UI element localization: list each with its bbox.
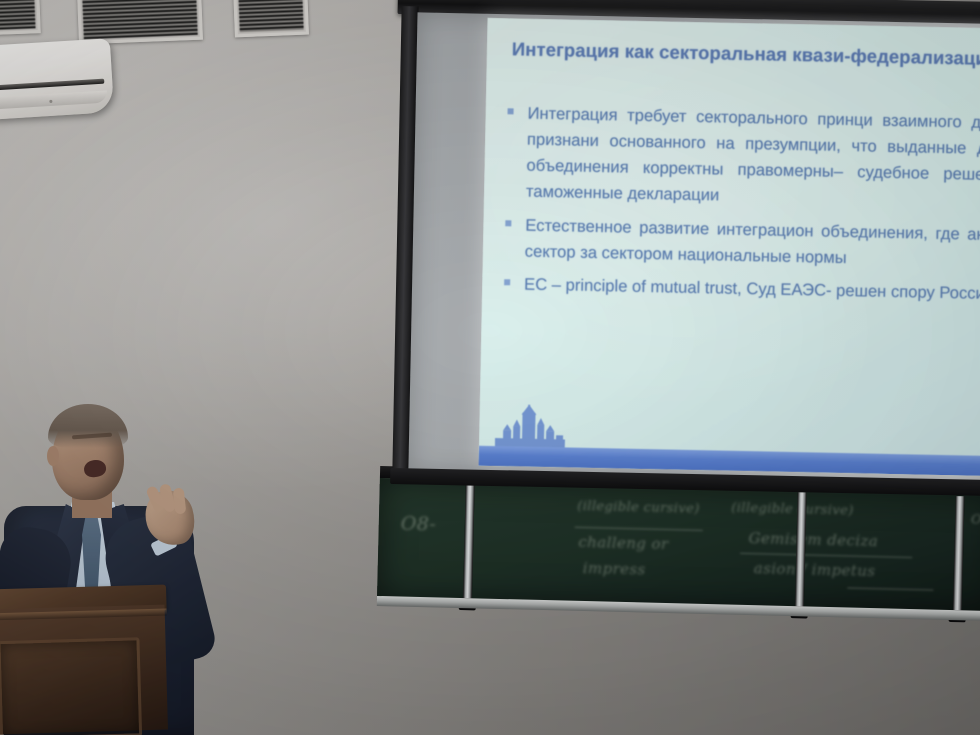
slide-bullet: Интеграция требует секторального принци … [494, 100, 980, 217]
lecture-hall-photo: O8- (illegible cursive) challeng or impr… [0, 0, 980, 735]
presenter-finger [173, 487, 187, 514]
chalk-writing: (illegible cursive) [731, 501, 854, 519]
bullet-text: Интеграция требует секторального принци … [526, 104, 980, 205]
bullet-square-icon [508, 108, 514, 114]
projection-screen: Интеграция как секторальная квази-федера… [388, 0, 980, 502]
msu-building-logo-icon [495, 404, 566, 449]
projected-slide: Интеграция как секторальная квази-федера… [478, 18, 980, 477]
bullet-square-icon [504, 279, 510, 285]
slide-title: Интеграция как секторальная квази-федера… [509, 36, 980, 73]
chalk-writing: challeng or [578, 533, 669, 553]
bullet-text: Естественное развитие интеграцион объеди… [525, 215, 980, 267]
bullet-text: ЕС – principle of mutual trust, Суд ЕАЭС… [524, 274, 980, 304]
ac-lower-lip [0, 90, 108, 109]
presenter-ear [47, 446, 59, 466]
chalk-writing: asion / impetus [754, 559, 876, 580]
chalk-writing: (illegible cursive) [577, 499, 700, 517]
lectern-podium [0, 585, 170, 735]
slide-bullet: ЕС – principle of mutual trust, Суд ЕАЭС… [492, 271, 980, 310]
chalk-writing: O8- [971, 512, 980, 528]
ventilation-grille-icon [0, 0, 41, 35]
chalk-writing: impress [583, 559, 646, 579]
ventilation-grille-icon [233, 0, 309, 37]
chalk-writing: Gemisem deciza [748, 529, 878, 550]
chalkboard-panel-divider [795, 492, 807, 614]
ventilation-grille-icon [77, 0, 203, 44]
slide-body: Интеграция требует секторального принци … [492, 100, 980, 317]
chalkboard-panel-divider [953, 496, 965, 618]
air-conditioner-unit [0, 38, 114, 120]
chalkboard-panel-divider [463, 484, 475, 606]
slide-bullet: Естественное развитие интеграцион объеди… [493, 211, 980, 276]
chalk-writing: O8- [401, 513, 437, 536]
podium-recessed-panel [0, 637, 142, 735]
ac-vent-slot [0, 79, 104, 91]
bullet-square-icon [505, 220, 511, 226]
presenter-hair [48, 404, 128, 448]
